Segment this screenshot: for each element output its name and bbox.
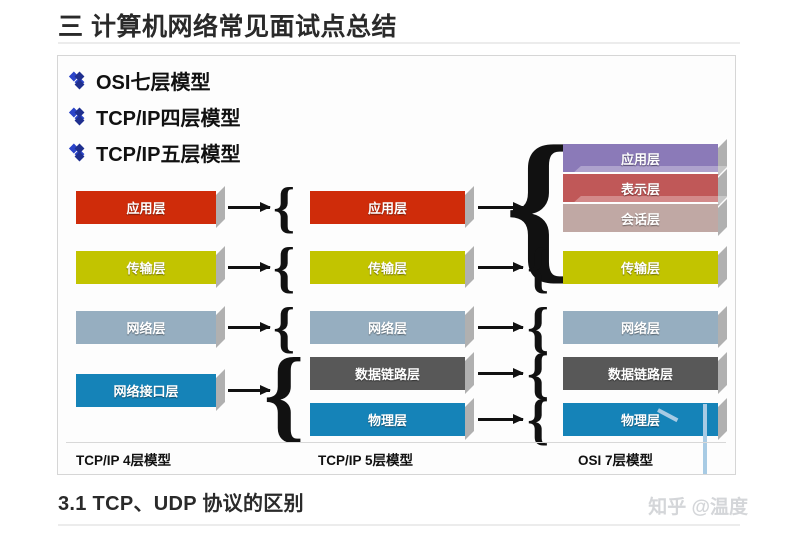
layer-label: 应用层 — [621, 149, 660, 168]
layer-label: 网络接口层 — [113, 381, 178, 400]
arrow-tcpip4-transport — [228, 266, 270, 269]
layer-box-tcpip4-network: 网络层 — [76, 311, 216, 344]
layer-box-tcpip5-datalink: 数据链路层 — [310, 357, 465, 390]
arrow-tcpip4-application — [228, 206, 270, 209]
layer-label: 传输层 — [621, 258, 660, 277]
page-title: 三 计算机网络常见面试点总结 — [58, 7, 397, 43]
layer-box-tcpip5-network: 网络层 — [310, 311, 465, 344]
layer-label: 表示层 — [621, 179, 660, 198]
column-footer-osi7: OSI 7层模型 — [578, 449, 653, 469]
column-footer-tcpip5: TCP/IP 5层模型 — [318, 449, 413, 469]
diagram-container: OSI七层模型 TCP/IP四层模型 TCP/IP五层模型 应用层 传输层 网络… — [57, 55, 736, 475]
brace-tcpip4-interface: { — [276, 349, 292, 441]
brace-tcpip4-application: { — [276, 184, 292, 232]
layer-box-osi-physical: 物理层 — [563, 403, 718, 436]
brace-osi-physical: { — [530, 396, 546, 444]
arrow-tcpip5-physical — [478, 418, 523, 421]
layer-label: 物理层 — [621, 410, 660, 429]
layer-label: 网络层 — [126, 318, 165, 337]
title-divider — [58, 42, 740, 44]
section-title: 3.1 TCP、UDP 协议的区别 — [58, 487, 304, 516]
layer-box-tcpip4-transport: 传输层 — [76, 251, 216, 284]
brace-tcpip4-transport: { — [276, 244, 292, 292]
layer-box-osi-network: 网络层 — [563, 311, 718, 344]
layer-label: 应用层 — [126, 198, 165, 217]
layer-box-tcpip5-physical: 物理层 — [310, 403, 465, 436]
watermark: 知乎 @温度 — [648, 492, 748, 519]
layer-box-tcpip4-application: 应用层 — [76, 191, 216, 224]
arrow-tcpip5-datalink — [478, 372, 523, 375]
slide-page: 三 计算机网络常见面试点总结 OSI七层模型 TCP/IP四层模型 TCP/IP… — [0, 0, 796, 533]
layer-label: 数据链路层 — [608, 364, 673, 383]
layer-box-tcpip4-interface: 网络接口层 — [76, 374, 216, 407]
layer-label: 物理层 — [368, 410, 407, 429]
column-footer-tcpip4: TCP/IP 4层模型 — [76, 449, 171, 469]
layer-box-osi-datalink: 数据链路层 — [563, 357, 718, 390]
layer-label: 传输层 — [368, 258, 407, 277]
layer-box-osi-transport: 传输层 — [563, 251, 718, 284]
layer-label: 会话层 — [621, 209, 660, 228]
decoration-bar — [703, 404, 707, 474]
footer-divider — [66, 442, 726, 443]
layer-label: 传输层 — [126, 258, 165, 277]
layer-label: 应用层 — [368, 198, 407, 217]
layer-label: 网络层 — [368, 318, 407, 337]
layer-model-diagram: 应用层 传输层 网络层 网络接口层 { { { { 应用层 — [58, 56, 735, 474]
brace-osi-transport: { — [530, 244, 546, 292]
layer-label: 数据链路层 — [355, 364, 420, 383]
layer-box-tcpip5-application: 应用层 — [310, 191, 465, 224]
layer-label: 网络层 — [621, 318, 660, 337]
layer-box-osi-session: 会话层 — [563, 204, 718, 232]
arrow-tcpip4-network — [228, 326, 270, 329]
arrow-tcpip5-network — [478, 326, 523, 329]
section-divider — [58, 524, 740, 526]
layer-box-tcpip5-transport: 传输层 — [310, 251, 465, 284]
